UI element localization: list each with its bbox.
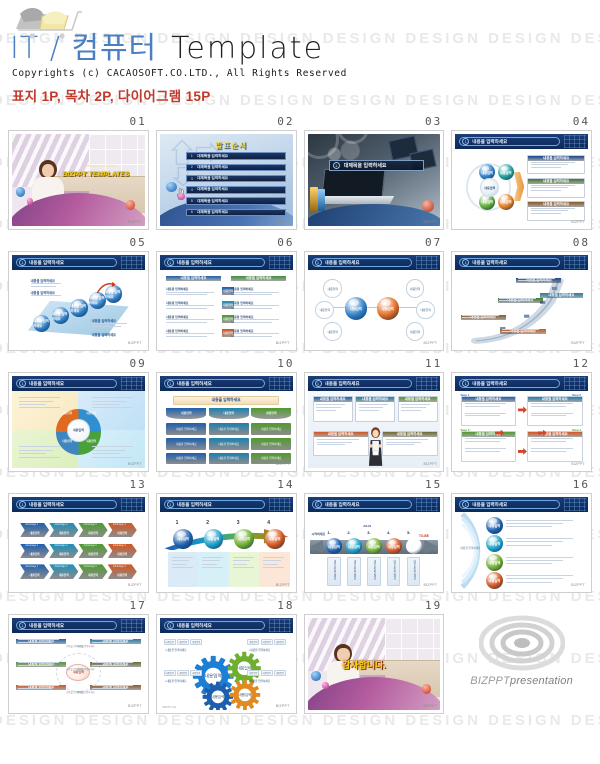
column-header: 내용을 입력하세요 xyxy=(231,276,285,281)
sphere-label: 내용입력 xyxy=(406,538,422,554)
text-line xyxy=(462,315,499,316)
slide-thumbnail[interactable]: 1내용을 입력하세요내용입력내용입력내용입력내용입력내용입력내용입력내용입력내용… xyxy=(304,251,445,351)
chevron-cell-label: 내용입력 xyxy=(117,552,127,556)
text-line xyxy=(401,410,421,411)
text-line xyxy=(531,164,568,165)
slide-title-number: 1 xyxy=(19,501,26,508)
slide-title-text: 내용을 입력하세요 xyxy=(29,502,64,508)
text-line xyxy=(263,557,284,558)
slide-footer-logo: BIZPPT xyxy=(128,462,142,466)
sphere-label: 내용입력 xyxy=(486,554,503,571)
text-lines xyxy=(531,208,581,216)
timeline-caption: 내용을 입력하세요 xyxy=(367,557,380,586)
step-label: Step 4 xyxy=(572,428,581,432)
content-card: 내용을 입력하세요 xyxy=(527,155,585,174)
toc-item[interactable]: 2대제목을 입력하세요 xyxy=(186,164,286,172)
page-count-summary: 표지 1P, 목차 2P, 다이어그램 15P xyxy=(4,85,600,105)
quadrant-card: 내용을 입력하세요 xyxy=(461,396,517,427)
timeline-caption: 내용을 입력하세요 xyxy=(327,557,340,586)
text-line xyxy=(18,688,52,689)
list-item-label: 내용을 입력하세요 xyxy=(231,315,253,319)
slide-title-text: 내용을 입력하세요 xyxy=(177,381,212,387)
text-line xyxy=(531,162,575,163)
text-line xyxy=(506,523,563,524)
satellite-node: 내용입력 xyxy=(323,322,342,341)
text-line xyxy=(506,557,574,558)
tag-chip: 내용입력 xyxy=(261,670,273,676)
laptop-screen xyxy=(322,169,386,197)
slide-cell: 101내용을 입력하세요내용을 입력하세요내용입력내용을 입력하세요내용을 입력… xyxy=(156,357,297,472)
text-line xyxy=(465,403,507,404)
text-line xyxy=(19,407,60,408)
chevron-row-label: Advantage 1 xyxy=(25,524,38,526)
toc-item-label: 대제목을 입력하세요 xyxy=(197,210,228,215)
satellite-label: 내용입력 xyxy=(420,308,430,312)
timeline-step-number: 5. xyxy=(407,530,410,535)
text-lines xyxy=(531,185,581,193)
slide-footer-logo: BIZPPT xyxy=(571,583,585,587)
text-line xyxy=(531,187,568,188)
sphere-node: 내용입력 xyxy=(366,538,382,554)
text-lines xyxy=(502,329,544,334)
text-line xyxy=(506,526,552,527)
text-line xyxy=(465,448,507,449)
text-lines xyxy=(231,319,285,324)
column-cell-label: 내용을 입력하세요 xyxy=(261,442,282,446)
text-lines xyxy=(506,538,583,548)
slide-canvas: 1내용을 입력하세요내용입력내용입력내용입력내용입력내용입력내용입력내용입력• … xyxy=(160,618,293,710)
slide-footer-logo: BIZPPT xyxy=(276,341,290,345)
slide-number-label: 12 xyxy=(451,357,592,370)
center-tab: 내용입력 xyxy=(222,287,234,295)
slide-title-pill: 1내용을 입력하세요 xyxy=(459,258,560,267)
text-line xyxy=(231,336,271,337)
slide-title-text: 내용을 입력하세요 xyxy=(472,260,507,266)
slide-content-area: 내용입력내용입력내용입력내용입력내용입력내용을 입력하세요내용을 입력하세요내용… xyxy=(455,149,588,226)
text-line xyxy=(531,406,566,407)
text-line xyxy=(518,280,549,281)
arc-caption: 내용을 입력하세요 xyxy=(461,546,481,550)
slide-title-text: 내용을 입력하세요 xyxy=(325,260,360,266)
tag-chip: 내용입력 xyxy=(274,639,286,645)
slide-footer-logo: BIZPPT xyxy=(423,220,437,224)
slide-thumbnail[interactable]: 발표순서1대제목을 입력하세요2대제목을 입력하세요3대제목을 입력하세요4대제… xyxy=(156,130,297,230)
slide-thumbnail[interactable]: 1내용을 입력하세요내용을 입력하세요Step 1내용을 입력하세요Step 2… xyxy=(451,372,592,472)
text-lines xyxy=(263,557,287,571)
slide-thumbnail[interactable]: 1내용을 입력하세요내용을 입력하세요내용을 입력하세요내용을 입력하세요내용을… xyxy=(304,372,445,472)
sphere-label: 내용입력 xyxy=(204,529,224,549)
slide-title-pill: 1내용을 입력하세요 xyxy=(16,621,117,630)
text-line xyxy=(166,333,214,334)
slide-content-area: 내용입력Advantage 1내용입력Advantage 2내용입력Advant… xyxy=(12,512,145,589)
top-label: AS-IS xyxy=(363,524,371,528)
slide-thumbnail[interactable]: 1내용을 입력하세요내용입력Advantage 1내용입력Advantage 2… xyxy=(8,493,149,593)
card-header: 내용을 입력하세요 xyxy=(528,156,584,161)
chevron-cell-label: 내용입력 xyxy=(59,531,69,535)
sphere-node: 내용입력 xyxy=(498,194,514,210)
slide-cell: 061내용을 입력하세요내용을 입력하세요내용을 입력하세요내용을 입력하세요내… xyxy=(156,236,297,351)
sphere-label: 내용입력 xyxy=(377,297,400,320)
to-be-label: TO-BE xyxy=(419,534,429,538)
slide-footer-logo: BIZPPT xyxy=(423,704,437,708)
note-label: 내용을 입력하세요 xyxy=(31,290,55,295)
brand-name-regular: presentation xyxy=(510,675,573,687)
sphere-label: 내용을 입력하세요 xyxy=(70,299,87,316)
text-lines xyxy=(506,557,583,567)
text-line xyxy=(531,448,573,449)
card-header: 내용을 입력하세요 xyxy=(528,179,584,184)
tag-chip: 내용입력 xyxy=(177,639,189,645)
slide-content-area: Presentation 2013.02.01BIZPPT TEMPLATES xyxy=(12,134,145,226)
column-cell: 내용을 입력하세요 xyxy=(209,438,249,450)
sphere-node: 내용입력 xyxy=(377,297,400,320)
slide-thumbnail[interactable]: 1대제목을 입력하세요BIZPPT xyxy=(304,130,445,230)
list-item-label: 내용을 입력하세요 xyxy=(166,287,188,291)
text-lines xyxy=(92,685,138,690)
slide-content-area: 감사합니다. xyxy=(308,618,441,710)
tag-chip-label: 내용입력 xyxy=(276,640,284,644)
toc-item-number: 5 xyxy=(189,199,194,203)
text-lines xyxy=(92,323,132,328)
slide-title-text: 내용을 입력하세요 xyxy=(325,381,360,387)
slide-footer-logo: BIZPPT xyxy=(571,341,585,345)
slide-title-pill: 1내용을 입력하세요 xyxy=(312,258,413,267)
quadrant-card-header: 내용을 입력하세요 xyxy=(462,432,516,437)
decor-dot-blue xyxy=(311,671,320,680)
text-line xyxy=(233,564,247,565)
curve-label-group: 내용을 입력하세요 xyxy=(500,329,545,334)
segment-label: 내용입력 xyxy=(62,411,72,415)
slide-thumbnail[interactable]: 1내용을 입력하세요내용을 입력하세요내용입력내용입력내용입력내용입력BIZPP… xyxy=(451,493,592,593)
list-item-label: 내용을 입력하세요 xyxy=(231,329,253,333)
page-title: IT / 컴퓨터 Template xyxy=(4,4,600,64)
text-lines xyxy=(166,333,220,338)
tag-chip-label: 내용입력 xyxy=(179,671,187,675)
text-lines xyxy=(92,397,138,411)
text-line xyxy=(92,323,127,324)
text-line xyxy=(18,665,52,666)
text-line xyxy=(92,407,133,408)
column-head: 내용입력 xyxy=(209,408,249,419)
text-lines xyxy=(531,438,578,443)
slide-cell: 111내용을 입력하세요내용을 입력하세요내용을 입력하세요내용을 입력하세요내… xyxy=(304,357,445,472)
slide-title-text: 내용을 입력하세요 xyxy=(472,502,507,508)
sphere-node: 내용을 입력하세요 xyxy=(52,307,69,324)
sphere-label: 내용입력 xyxy=(366,538,382,554)
text-line xyxy=(316,410,336,411)
text-lines xyxy=(92,446,138,460)
decor-dot-pink xyxy=(27,198,34,205)
slide-footer-logo: BIZPPT xyxy=(128,583,142,587)
column-head-label: 내용입력 xyxy=(223,411,234,415)
content-card: 내용을 입력하세요 xyxy=(313,396,353,422)
column-cell: 내용을 입력하세요 xyxy=(251,438,291,450)
timeline-caption-label: 내용을 입력하세요 xyxy=(352,560,356,580)
column-cell: 내용을 입력하세요 xyxy=(166,453,206,465)
text-line xyxy=(263,567,284,568)
slide-title-text: 내용을 입력하세요 xyxy=(177,623,212,629)
chevron-row-label: Advantage 2 xyxy=(54,524,67,526)
bullet-label: • 내용을 입력하세요 xyxy=(165,679,186,683)
timeline-step-number: 2. xyxy=(347,530,350,535)
sphere-label: 내용입력 xyxy=(345,297,368,320)
slide-content-area: 시작하세요AS-ISTO-BE내용입력1.내용을 입력하세요내용입력2.내용을 … xyxy=(308,512,441,589)
quadrant-card: 내용을 입력하세요 xyxy=(461,431,517,462)
sphere-label: 내용입력 xyxy=(498,164,514,180)
slide-title-text: 내용을 입력하세요 xyxy=(29,260,64,266)
slide-canvas: 1내용을 입력하세요내용입력내용을 입력하세요내용을 입력하세요내용을 입력하세… xyxy=(12,618,145,710)
content-card: 내용을 입력하세요 xyxy=(355,396,395,422)
slide-canvas: Presentation 2013.02.01BIZPPT TEMPLATESB… xyxy=(12,134,145,226)
text-line xyxy=(499,298,536,299)
pencil-icon xyxy=(310,187,318,211)
step-label: Step 2 xyxy=(572,393,581,397)
laptop-base xyxy=(316,196,395,204)
text-line xyxy=(166,308,206,309)
slide-title-bar: 1내용을 입력하세요 xyxy=(160,618,293,633)
center-node-label: 내용입력 xyxy=(484,186,495,190)
toc-item[interactable]: 3대제목을 입력하세요 xyxy=(186,175,286,183)
curve-label-group: 내용을 입력하세요 xyxy=(516,278,561,283)
svg-text:내용입력: 내용입력 xyxy=(238,692,251,697)
sphere-node: 내용입력 xyxy=(326,538,342,554)
slide-number-label: 15 xyxy=(304,478,445,491)
toc-item[interactable]: 5대제목을 입력하세요 xyxy=(186,197,286,205)
sphere-label: 내용입력 xyxy=(265,529,285,549)
bullet-label: • 내용을 입력하세요 xyxy=(249,648,270,652)
tag-chip: 내용입력 xyxy=(190,670,202,676)
slide-thumbnail[interactable]: 1내용을 입력하세요시작하세요AS-ISTO-BE내용입력1.내용을 입력하세요… xyxy=(304,493,445,593)
text-line xyxy=(231,319,279,320)
toc-item-label: 대제목을 입력하세요 xyxy=(197,176,228,181)
slide-number-label: 05 xyxy=(8,236,149,249)
text-line xyxy=(499,300,530,301)
sphere-node: 내용입력 xyxy=(234,529,254,549)
page-title-english: Template xyxy=(171,34,324,64)
section-title-text: 대제목을 입력하세요 xyxy=(344,162,387,169)
text-line xyxy=(506,582,552,583)
text-line xyxy=(92,665,126,666)
toc-item-number: 4 xyxy=(189,188,194,192)
text-line xyxy=(506,520,574,521)
slide-content-area: 내용입력내용입력내용입력내용입력내용입력 xyxy=(12,391,145,468)
sphere-label: 내용입력 xyxy=(346,538,362,554)
sphere-node: 내용입력 xyxy=(486,517,503,534)
slide-footer-logo: BIZPPT xyxy=(128,220,142,224)
chevron-cell-label: 내용입력 xyxy=(59,573,69,577)
toc-item-number: 1 xyxy=(189,154,194,158)
red-arrow-icon xyxy=(518,406,527,413)
slide-cell: 161내용을 입력하세요내용을 입력하세요내용입력내용입력내용입력내용입력BIZ… xyxy=(451,478,592,593)
curve-label-group: 내용을 입력하세요 xyxy=(461,315,506,320)
slide-thumbnail[interactable]: 1내용을 입력하세요내용을 입력하세요내용입력내용을 입력하세요내용을 입력하세… xyxy=(156,372,297,472)
tag-chip-label: 내용입력 xyxy=(263,640,271,644)
slide-title-bar: 1내용을 입력하세요 xyxy=(160,497,293,512)
text-lines xyxy=(31,283,66,288)
slide-thumbnail[interactable]: 1내용을 입력하세요내용입력내용입력내용입력내용입력내용입력내용을 입력하세요내… xyxy=(451,130,592,230)
slide-canvas: 발표순서1대제목을 입력하세요2대제목을 입력하세요3대제목을 입력하세요4대제… xyxy=(160,134,293,226)
text-line xyxy=(18,642,52,643)
slide-number-label: 07 xyxy=(304,236,445,249)
slide-title-number: 1 xyxy=(167,259,174,266)
as-is-label: 시작하세요 xyxy=(311,532,325,536)
slide-footer-logo: BIZPPT xyxy=(423,462,437,466)
thanks-title: 감사합니다. xyxy=(342,658,386,671)
sphere-node: 내용입력 xyxy=(346,538,362,554)
slide-cell: 141내용을 입력하세요내용입력1내용입력2내용입력3내용입력4BIZPPT xyxy=(156,478,297,593)
slide-title-number: 1 xyxy=(462,380,469,387)
text-line xyxy=(202,567,223,568)
column-cell: 내용을 입력하세요 xyxy=(209,453,249,465)
text-lines xyxy=(465,438,512,443)
slide-cell: 051내용을 입력하세요내용을 입력하세요내용을 입력하세요내용을 입력하세요내… xyxy=(8,236,149,351)
text-line xyxy=(465,438,507,439)
satellite-node: 내용입력 xyxy=(315,301,334,320)
quadrant-card: 내용을 입력하세요 xyxy=(527,396,583,427)
sphere-node: 내용입력 xyxy=(486,554,503,571)
slide-footer-logo: BIZPPT xyxy=(276,583,290,587)
satellite-label: 내용입력 xyxy=(410,330,420,334)
slide-canvas: 1대제목을 입력하세요BIZPPT xyxy=(308,134,441,226)
chevron-cell-label: 내용입력 xyxy=(30,573,40,577)
slide-thumbnail[interactable]: 1내용을 입력하세요내용입력내용입력내용입력내용입력내용입력내용입력내용입력• … xyxy=(156,614,297,714)
slide-title-bar: 1내용을 입력하세요 xyxy=(12,618,145,633)
text-line xyxy=(506,560,563,561)
slide-title-pill: 1내용을 입력하세요 xyxy=(459,379,560,388)
text-lines xyxy=(231,292,285,297)
step-number: 3 xyxy=(237,520,240,526)
chevron-cell-label: 내용입력 xyxy=(117,531,127,535)
column-cell-label: 내용을 입력하세요 xyxy=(176,427,197,431)
slide-thumbnail[interactable]: Presentation 2013.02.01BIZPPT TEMPLATESB… xyxy=(8,130,149,230)
slide-content-area: 내용을 입력하세요Step 1내용을 입력하세요Step 2내용을 입력하세요S… xyxy=(455,391,588,468)
slide-content-area: 내용입력내용입력내용입력내용입력내용입력내용입력내용입력내용입력 xyxy=(308,270,441,347)
tag-chip-label: 내용입력 xyxy=(192,640,200,644)
chevron-row-label: Advantage 2 xyxy=(54,566,67,568)
slide-title-text: 내용을 입력하세요 xyxy=(177,260,212,266)
text-line xyxy=(92,450,126,451)
slide-thumbnail[interactable]: 1내용을 입력하세요내용을 입력하세요내용을 입력하세요내용을 입력하세요내용을… xyxy=(451,251,592,351)
text-line xyxy=(506,563,552,564)
shopping-cart-icon xyxy=(12,6,84,40)
watermark-row: DESIGN DESIGN DESIGN DESIGN DESIGN DESIG… xyxy=(0,712,600,729)
decor-dot-blue xyxy=(16,187,25,196)
note-label: 내용을 입력하세요 xyxy=(92,332,116,337)
toc-item[interactable]: 6대제목을 입력하세요 xyxy=(186,209,286,217)
note-label: 내용을 입력하세요 xyxy=(92,318,116,323)
text-line xyxy=(19,453,47,454)
sphere-node: 내용을 입력하세요 xyxy=(70,299,87,316)
slide-cell: 19감사합니다.BIZPPT xyxy=(304,599,445,714)
slide-title-text: 내용을 입력하세요 xyxy=(177,502,212,508)
slide-cell: 031대제목을 입력하세요BIZPPT xyxy=(304,115,445,230)
slide-number-label: 08 xyxy=(451,236,592,249)
column-cell: 내용을 입력하세요 xyxy=(251,423,291,435)
text-lines xyxy=(231,333,285,338)
slide-thumbnail[interactable]: 1내용을 입력하세요내용입력내용입력내용입력내용입력내용입력BIZPPT xyxy=(8,372,149,472)
center-node: 내용입력 xyxy=(480,178,499,197)
slide-number-label: 10 xyxy=(156,357,297,370)
segment-label: 내용입력 xyxy=(62,439,72,443)
slide-cell: 131내용을 입력하세요내용입력Advantage 1내용입력Advantage… xyxy=(8,478,149,593)
slide-cell: 091내용을 입력하세요내용입력내용입력내용입력내용입력내용입력BIZPPT xyxy=(8,357,149,472)
red-arrow-icon xyxy=(89,281,124,301)
slide-thumbnail[interactable]: 1내용을 입력하세요내용입력내용을 입력하세요내용을 입력하세요내용을 입력하세… xyxy=(8,614,149,714)
slide-cell: 041내용을 입력하세요내용입력내용입력내용입력내용입력내용입력내용을 입력하세… xyxy=(451,115,592,230)
toc-item[interactable]: 4대제목을 입력하세요 xyxy=(186,186,286,194)
slide-thumbnail[interactable]: 1내용을 입력하세요내용입력1내용입력2내용입력3내용입력4BIZPPT xyxy=(156,493,297,593)
slide-title-pill: 1내용을 입력하세요 xyxy=(164,379,265,388)
text-line xyxy=(359,410,379,411)
text-line xyxy=(166,294,206,295)
sphere-node: 내용입력 xyxy=(498,164,514,180)
slide-footer-logo: BIZPPT xyxy=(276,220,290,224)
slide-footer-logo: BIZPPT xyxy=(276,704,290,708)
slide-thumbnail[interactable]: 감사합니다.BIZPPT xyxy=(304,614,445,714)
slide-canvas: 1내용을 입력하세요내용을 입력하세요내용을 입력하세요내용을 입력하세요내용을… xyxy=(455,255,588,347)
text-line xyxy=(386,439,428,440)
text-line xyxy=(202,557,223,558)
slide-number-label: 03 xyxy=(304,115,445,128)
slide-thumbnail[interactable]: 1내용을 입력하세요내용을 입력하세요내용을 입력하세요내용을 입력하세요내용을… xyxy=(8,251,149,351)
text-lines xyxy=(317,439,364,447)
quadrant-card-header: 내용을 입력하세요 xyxy=(528,397,582,402)
chevron-row-label: Advantage 1 xyxy=(25,545,38,547)
slide-cell: 071내용을 입력하세요내용입력내용입력내용입력내용입력내용입력내용입력내용입력… xyxy=(304,236,445,351)
timeline-caption-label: 내용을 입력하세요 xyxy=(412,560,416,580)
satellite-node: 내용입력 xyxy=(406,322,425,341)
text-line xyxy=(506,575,574,576)
slide-title-bar: 1내용을 입력하세요 xyxy=(455,134,588,149)
slide-number-label: 17 xyxy=(8,599,149,612)
page-header: IT / 컴퓨터 Template Copyrights (c) CACAOSO… xyxy=(0,0,600,105)
slide-cell: 081내용을 입력하세요내용을 입력하세요내용을 입력하세요내용을 입력하세요내… xyxy=(451,236,592,351)
branch-group: 내용을 입력하세요 xyxy=(16,662,66,667)
text-line xyxy=(531,415,566,416)
tag-chip: 내용입력 xyxy=(261,639,273,645)
slide-canvas: 1내용을 입력하세요내용입력내용입력내용입력내용입력내용입력BIZPPT xyxy=(12,376,145,468)
column-cell-label: 내용을 입력하세요 xyxy=(219,456,240,460)
slide-title-pill: 1내용을 입력하세요 xyxy=(16,379,117,388)
toc-item[interactable]: 1대제목을 입력하세요 xyxy=(186,152,286,160)
text-lines xyxy=(18,685,64,690)
tag-chip: 내용입력 xyxy=(177,670,189,676)
slide-canvas: 1내용을 입력하세요내용입력내용입력내용입력내용입력내용입력내용을 입력하세요내… xyxy=(455,134,588,226)
slide-thumbnail[interactable]: 1내용을 입력하세요내용을 입력하세요내용을 입력하세요내용을 입력하세요내용을… xyxy=(156,251,297,351)
sphere-node: 내용입력 xyxy=(265,529,285,549)
chevron-row-label: Advantage 3 xyxy=(84,524,97,526)
slide-title-bar: 1내용을 입력하세요 xyxy=(308,255,441,270)
slide-title-pill: 1내용을 입력하세요 xyxy=(459,500,560,509)
text-line xyxy=(233,560,251,561)
cover-title: BIZPPT TEMPLATES xyxy=(62,171,139,178)
slide-number-label: 14 xyxy=(156,478,297,491)
content-card: 내용을 입력하세요 xyxy=(382,431,438,456)
sphere-label: 내용입력 xyxy=(326,538,342,554)
satellite-label: 내용입력 xyxy=(410,287,420,291)
slide-canvas: 1내용을 입력하세요내용을 입력하세요내용을 입력하세요내용을 입력하세요내용을… xyxy=(160,255,293,347)
text-line xyxy=(531,451,566,452)
quadrant-card: 내용을 입력하세요 xyxy=(527,431,583,462)
content-card: 내용을 입력하세요 xyxy=(527,201,585,220)
text-line xyxy=(92,642,126,643)
text-line xyxy=(92,404,120,405)
slide-footer-logo: BIZPPT xyxy=(571,462,585,466)
slide-title-number: 1 xyxy=(315,259,322,266)
bullet-label: • 내용을 입력하세요 xyxy=(249,679,270,683)
slide-title-pill: 1내용을 입력하세요 xyxy=(459,137,560,146)
curve-label-group: 내용을 입력하세요 xyxy=(498,298,543,303)
